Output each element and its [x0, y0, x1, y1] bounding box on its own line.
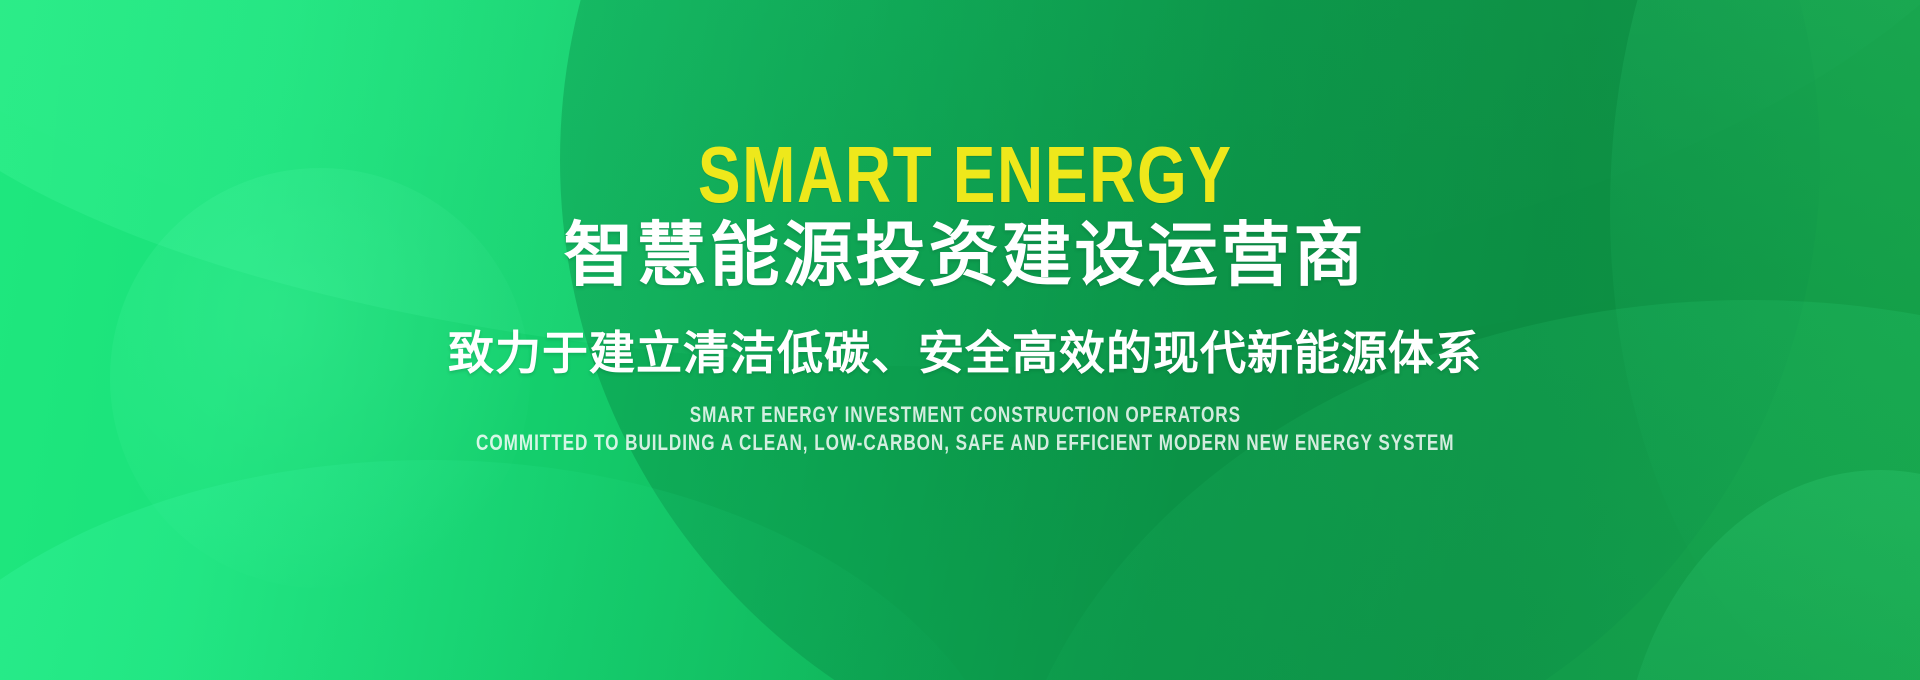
banner-subtitle-chinese: 致力于建立清洁低碳、安全高效的现代新能源体系 — [448, 330, 1482, 376]
banner-subtitle-english-line-1: SMART ENERGY INVESTMENT CONSTRUCTION OPE… — [689, 402, 1240, 428]
smart-energy-banner: SMART ENERGY 智慧能源投资建设运营商 致力于建立清洁低碳、安全高效的… — [0, 0, 1920, 680]
banner-subtitle-english-line-2: COMMITTED TO BUILDING A CLEAN, LOW-CARBO… — [476, 430, 1455, 456]
banner-title-chinese: 智慧能源投资建设运营商 — [564, 220, 1367, 290]
banner-content: SMART ENERGY 智慧能源投资建设运营商 致力于建立清洁低碳、安全高效的… — [0, 0, 1920, 680]
banner-title-english: SMART ENERGY — [698, 138, 1233, 212]
